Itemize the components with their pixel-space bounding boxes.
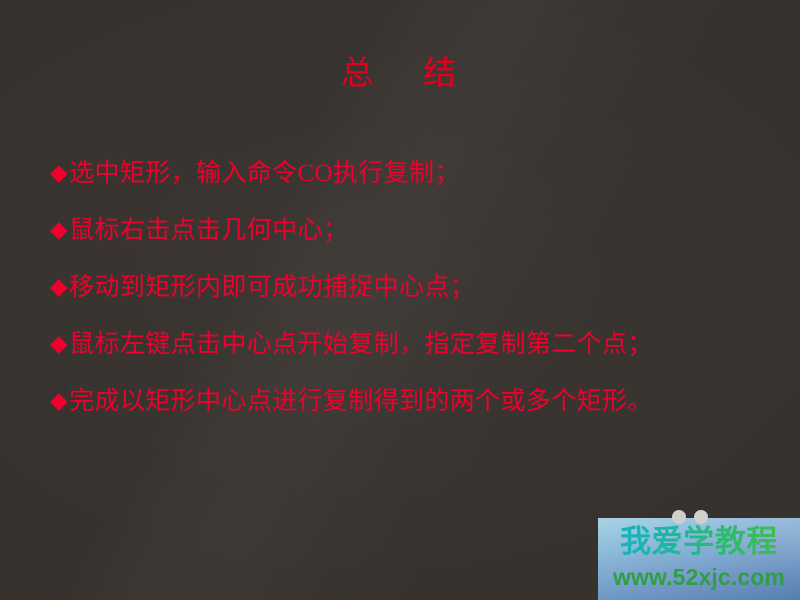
- bullet-list: ◆ 选中矩形，输入命令CO执行复制； ◆ 鼠标右击点击几何中心； ◆ 移动到矩形…: [50, 145, 760, 430]
- watermark-brand-label: 我爱学教程: [598, 523, 800, 561]
- presentation-slide: 总 结 ◆ 选中矩形，输入命令CO执行复制； ◆ 鼠标右击点击几何中心； ◆ 移…: [0, 0, 800, 600]
- list-item: ◆ 鼠标左键点击中心点开始复制，指定复制第二个点；: [50, 316, 760, 373]
- list-item-label: 选中矩形，输入命令CO执行复制；: [69, 159, 460, 189]
- list-item: ◆ 移动到矩形内即可成功捕捉中心点；: [50, 259, 760, 316]
- list-item-label: 移动到矩形内即可成功捕捉中心点；: [69, 273, 475, 303]
- list-item-label: 完成以矩形中心点进行复制得到的两个或多个矩形。: [69, 387, 653, 417]
- diamond-bullet-icon: ◆: [50, 218, 68, 241]
- list-item-label: 鼠标右击点击几何中心；: [69, 216, 348, 246]
- diamond-bullet-icon: ◆: [50, 389, 68, 412]
- diamond-bullet-icon: ◆: [50, 275, 68, 298]
- list-item: ◆ 完成以矩形中心点进行复制得到的两个或多个矩形。: [50, 373, 760, 430]
- diamond-bullet-icon: ◆: [50, 332, 68, 355]
- page-title: 总 结: [0, 54, 800, 94]
- list-item: ◆ 鼠标右击点击几何中心；: [50, 202, 760, 259]
- watermark-url-label: www.52xjc.com: [598, 563, 800, 591]
- watermark-dot-icon: [672, 510, 686, 524]
- watermark-dot-icon: [694, 510, 708, 524]
- list-item-label: 鼠标左键点击中心点开始复制，指定复制第二个点；: [69, 330, 653, 360]
- watermark-panel: 我爱学教程 www.52xjc.com: [598, 518, 800, 600]
- list-item: ◆ 选中矩形，输入命令CO执行复制；: [50, 145, 760, 202]
- diamond-bullet-icon: ◆: [50, 161, 68, 184]
